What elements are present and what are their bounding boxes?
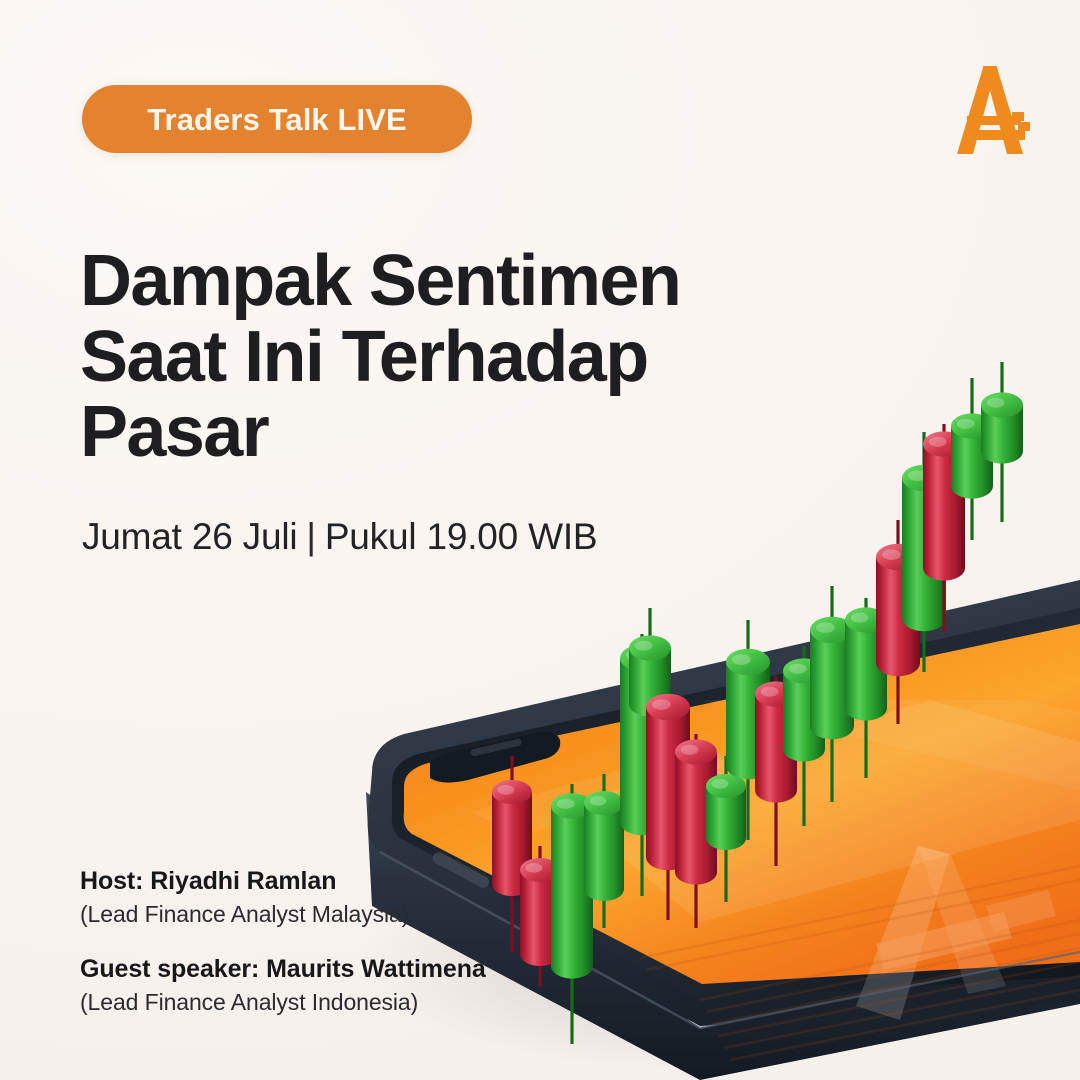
schedule-line: Jumat 26 Juli|Pukul 19.00 WIB [82,516,597,558]
credit-guest-role: (Lead Finance Analyst Indonesia) [80,988,486,1018]
candle-body [584,803,624,901]
headline-line-1: Dampak Sentimen [80,244,840,320]
candle-cap-highlight [557,799,575,809]
candle-cap-highlight [929,437,947,447]
schedule-date: Jumat 26 Juli [82,516,297,557]
candle-cap-highlight [851,613,869,623]
candle-cap-highlight [987,398,1005,408]
candle-cap-highlight [526,863,543,873]
credit-host-role: (Lead Finance Analyst Malaysia) [80,900,486,930]
candle-cap-highlight [635,641,653,651]
candle-cap-highlight [732,654,750,665]
candle-cap-highlight [761,687,779,697]
credit-host: Host: Riyadhi Ramlan (Lead Finance Analy… [80,866,486,930]
candle-cap-highlight [789,664,807,674]
live-badge-label: Traders Talk LIVE [147,104,407,135]
page-title: Dampak Sentimen Saat Ini Terhadap Pasar [80,244,840,471]
schedule-separator: | [297,516,324,558]
candle-cap-highlight [882,549,900,560]
candle-cap-highlight [590,796,607,806]
credits-block: Host: Riyadhi Ramlan (Lead Finance Analy… [80,866,486,1018]
credit-guest-name: Guest speaker: Maurits Wattimena [80,954,486,985]
candle-cap-highlight [816,622,834,633]
candle-cap-highlight [712,779,729,789]
schedule-time: Pukul 19.00 WIB [325,516,598,557]
candle-cap-highlight [652,699,670,710]
live-badge[interactable]: Traders Talk LIVE [82,85,472,153]
headline-line-3: Pasar [80,395,840,471]
poster-canvas: Traders Talk LIVE Dampak Sentimen Saat I… [0,0,1080,1080]
candle-cap-highlight [957,419,975,429]
credit-host-name: Host: Riyadhi Ramlan [80,866,486,897]
logo-a-mark-icon [938,58,1042,162]
headline-line-2: Saat Ini Terhadap [80,320,840,396]
candlestick-19-up [981,362,1023,522]
candle-cap-highlight [498,785,515,795]
candle-cap-highlight [681,745,699,755]
credit-guest: Guest speaker: Maurits Wattimena (Lead F… [80,954,486,1018]
